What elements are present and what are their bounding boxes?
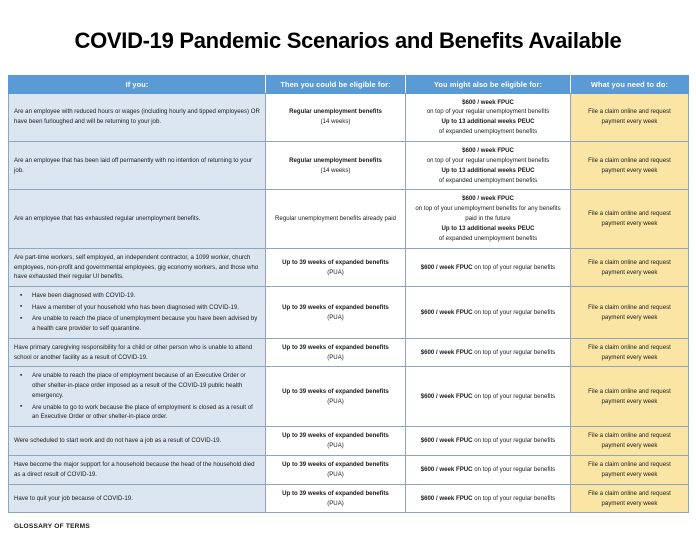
also-eligible-amount: $600 / week FPUC <box>421 393 473 400</box>
also-eligible-amount: $600 / week FPUC <box>421 309 473 316</box>
cell-then-eligible: Regular unemployment benefits(14 weeks) <box>266 93 406 141</box>
cell-what-to-do: File a claim online and request payment … <box>571 367 689 427</box>
also-eligible-amount: $600 / week FPUC <box>421 495 473 502</box>
then-eligible-sub: (14 weeks) <box>321 118 351 125</box>
scenario-text: Have primary caregiving responsibility f… <box>14 344 252 361</box>
also-eligible-peuc: Up to 13 additional weeks PEUC <box>441 118 534 125</box>
cell-might-also: $600 / week FPUC on top of your regular … <box>406 455 571 484</box>
then-eligible-title: Regular unemployment benefits <box>289 157 382 164</box>
action-text: File a claim online and request payment … <box>588 210 671 227</box>
cell-if-you: Have to quit your job because of COVID-1… <box>9 484 266 513</box>
cell-might-also: $600 / week FPUCon top of your unemploym… <box>406 190 571 248</box>
scenario-text: Are part-time workers, self employed, an… <box>14 254 258 281</box>
also-eligible-detail: on top of your regular unemployment bene… <box>427 157 550 164</box>
then-eligible-sub: (PUA) <box>327 354 344 361</box>
then-eligible-sub: (PUA) <box>327 442 344 449</box>
action-text: File a claim online and request payment … <box>588 461 671 478</box>
table-row: Have become the major support for a hous… <box>9 455 689 484</box>
cell-what-to-do: File a claim online and request payment … <box>571 338 689 367</box>
cell-what-to-do: File a claim online and request payment … <box>571 142 689 190</box>
cell-might-also: $600 / week FPUC on top of your regular … <box>406 248 571 287</box>
cell-if-you: Are an employee with reduced hours or wa… <box>9 93 266 141</box>
scenario-bullet: Are unable to go to work because the pla… <box>32 403 260 423</box>
then-eligible-sub: (PUA) <box>327 500 344 507</box>
cell-then-eligible: Up to 39 weeks of expanded benefits(PUA) <box>266 367 406 427</box>
cell-what-to-do: File a claim online and request payment … <box>571 248 689 287</box>
action-text: File a claim online and request payment … <box>588 304 671 321</box>
cell-then-eligible: Up to 39 weeks of expanded benefits(PUA) <box>266 484 406 513</box>
cell-then-eligible: Regular unemployment benefits(14 weeks) <box>266 142 406 190</box>
also-eligible-detail: on top of your regular benefits <box>473 349 556 356</box>
cell-might-also: $600 / week FPUC on top of your regular … <box>406 338 571 367</box>
table-header-row: If you: Then you could be eligible for: … <box>9 75 689 93</box>
then-eligible-title: Up to 39 weeks of expanded benefits <box>282 344 389 351</box>
cell-might-also: $600 / week FPUC on top of your regular … <box>406 367 571 427</box>
page-title: COVID-19 Pandemic Scenarios and Benefits… <box>8 15 688 60</box>
action-text: File a claim online and request payment … <box>588 490 671 507</box>
cell-then-eligible: Up to 39 weeks of expanded benefits(PUA) <box>266 338 406 367</box>
scenario-bullet: Have a member of your household who has … <box>32 303 260 313</box>
table-row: Were scheduled to start work and do not … <box>9 427 689 456</box>
cell-then-eligible: Up to 39 weeks of expanded benefits(PUA) <box>266 427 406 456</box>
scenario-text: Are an employee that has been laid off p… <box>14 157 252 174</box>
also-eligible-detail: on top of your regular benefits <box>473 264 556 271</box>
then-eligible-title: Up to 39 weeks of expanded benefits <box>282 259 389 266</box>
then-eligible-sub: (PUA) <box>327 314 344 321</box>
action-text: File a claim online and request payment … <box>588 432 671 449</box>
also-eligible-detail: on top of your regular benefits <box>473 437 556 444</box>
scenario-text: Are an employee with reduced hours or wa… <box>14 108 260 125</box>
scenario-text: Have to quit your job because of COVID-1… <box>14 495 133 502</box>
cell-if-you: Are an employee that has exhausted regul… <box>9 190 266 248</box>
cell-then-eligible: Up to 39 weeks of expanded benefits(PUA) <box>266 287 406 338</box>
also-eligible-peuc-detail: of expanded unemployment benefits <box>439 177 537 184</box>
glossary-heading: GLOSSARY OF TERMS <box>14 523 682 530</box>
then-eligible-title: Up to 39 weeks of expanded benefits <box>282 461 389 468</box>
action-text: File a claim online and request payment … <box>588 108 671 125</box>
also-eligible-detail: on top of your regular unemployment bene… <box>427 108 550 115</box>
also-eligible-detail: on top of your regular benefits <box>473 466 556 473</box>
cell-then-eligible: Up to 39 weeks of expanded benefits(PUA) <box>266 248 406 287</box>
cell-might-also: $600 / week FPUC on top of your regular … <box>406 484 571 513</box>
scenario-text: Have become the major support for a hous… <box>14 461 255 478</box>
cell-then-eligible: Up to 39 weeks of expanded benefits(PUA) <box>266 455 406 484</box>
column-header-if-you: If you: <box>9 75 266 93</box>
also-eligible-amount: $600 / week FPUC <box>421 466 473 473</box>
benefits-matrix-table: If you: Then you could be eligible for: … <box>8 75 689 514</box>
cell-what-to-do: File a claim online and request payment … <box>571 190 689 248</box>
then-eligible-title: Up to 39 weeks of expanded benefits <box>282 490 389 497</box>
column-header-then-eligible: Then you could be eligible for: <box>266 75 406 93</box>
table-row: Are part-time workers, self employed, an… <box>9 248 689 287</box>
also-eligible-amount: $600 / week FPUC <box>462 147 514 154</box>
also-eligible-detail: on top of your regular benefits <box>473 309 556 316</box>
also-eligible-detail: on top of your regular benefits <box>473 495 556 502</box>
also-eligible-detail: on top of your unemployment benefits for… <box>415 205 560 222</box>
scenario-bullet: Are unable to reach the place of unemplo… <box>32 314 260 334</box>
cell-might-also: $600 / week FPUCon top of your regular u… <box>406 93 571 141</box>
column-header-what-to-do: What you need to do: <box>571 75 689 93</box>
column-header-might-also: You might also be eligible for: <box>406 75 571 93</box>
then-eligible-text: Regular unemployment benefits already pa… <box>275 215 396 222</box>
scenario-bullet: Are unable to reach the place of employm… <box>32 371 260 401</box>
also-eligible-peuc-detail: of expanded unemployment benefits <box>439 128 537 135</box>
also-eligible-peuc-detail: of expanded unemployment benefits <box>439 235 537 242</box>
table-header: If you: Then you could be eligible for: … <box>9 75 689 93</box>
cell-if-you: Are unable to reach the place of employm… <box>9 367 266 427</box>
action-text: File a claim online and request payment … <box>588 388 671 405</box>
cell-what-to-do: File a claim online and request payment … <box>571 93 689 141</box>
table-row: Are unable to reach the place of employm… <box>9 367 689 427</box>
also-eligible-amount: $600 / week FPUC <box>462 195 514 202</box>
action-text: File a claim online and request payment … <box>588 344 671 361</box>
also-eligible-peuc: Up to 13 additional weeks PEUC <box>441 225 534 232</box>
scenario-text: Were scheduled to start work and do not … <box>14 437 221 444</box>
table-row: Have been diagnosed with COVID-19.Have a… <box>9 287 689 338</box>
cell-if-you: Have primary caregiving responsibility f… <box>9 338 266 367</box>
scenario-text: Are an employee that has exhausted regul… <box>14 215 200 222</box>
cell-then-eligible: Regular unemployment benefits already pa… <box>266 190 406 248</box>
then-eligible-sub: (PUA) <box>327 398 344 405</box>
also-eligible-amount: $600 / week FPUC <box>462 99 514 106</box>
table-row: Are an employee that has exhausted regul… <box>9 190 689 248</box>
table-row: Are an employee that has been laid off p… <box>9 142 689 190</box>
then-eligible-title: Regular unemployment benefits <box>289 108 382 115</box>
action-text: File a claim online and request payment … <box>588 259 671 276</box>
scenario-bullet-list: Are unable to reach the place of employm… <box>14 371 260 422</box>
also-eligible-peuc: Up to 13 additional weeks PEUC <box>441 167 534 174</box>
table-row: Are an employee with reduced hours or wa… <box>9 93 689 141</box>
cell-might-also: $600 / week FPUC on top of your regular … <box>406 427 571 456</box>
then-eligible-sub: (PUA) <box>327 269 344 276</box>
then-eligible-title: Up to 39 weeks of expanded benefits <box>282 388 389 395</box>
cell-if-you: Are part-time workers, self employed, an… <box>9 248 266 287</box>
scenario-bullet: Have been diagnosed with COVID-19. <box>32 291 260 301</box>
also-eligible-amount: $600 / week FPUC <box>421 437 473 444</box>
table-row: Have primary caregiving responsibility f… <box>9 338 689 367</box>
cell-if-you: Were scheduled to start work and do not … <box>9 427 266 456</box>
cell-what-to-do: File a claim online and request payment … <box>571 287 689 338</box>
cell-might-also: $600 / week FPUCon top of your regular u… <box>406 142 571 190</box>
also-eligible-amount: $600 / week FPUC <box>421 264 473 271</box>
glossary-section: GLOSSARY OF TERMS ADDITIONAL FEDERAL UNE… <box>8 513 688 538</box>
cell-if-you: Have become the major support for a hous… <box>9 455 266 484</box>
cell-if-you: Have been diagnosed with COVID-19.Have a… <box>9 287 266 338</box>
cell-might-also: $600 / week FPUC on top of your regular … <box>406 287 571 338</box>
cell-what-to-do: File a claim online and request payment … <box>571 455 689 484</box>
also-eligible-amount: $600 / week FPUC <box>421 349 473 356</box>
document-page: COVID-19 Pandemic Scenarios and Benefits… <box>0 15 696 538</box>
cell-what-to-do: File a claim online and request payment … <box>571 484 689 513</box>
table-row: Have to quit your job because of COVID-1… <box>9 484 689 513</box>
then-eligible-sub: (14 weeks) <box>321 167 351 174</box>
also-eligible-detail: on top of your regular benefits <box>473 393 556 400</box>
then-eligible-title: Up to 39 weeks of expanded benefits <box>282 304 389 311</box>
then-eligible-sub: (PUA) <box>327 471 344 478</box>
cell-what-to-do: File a claim online and request payment … <box>571 427 689 456</box>
cell-if-you: Are an employee that has been laid off p… <box>9 142 266 190</box>
action-text: File a claim online and request payment … <box>588 157 671 174</box>
then-eligible-title: Up to 39 weeks of expanded benefits <box>282 432 389 439</box>
scenario-bullet-list: Have been diagnosed with COVID-19.Have a… <box>14 291 260 333</box>
table-body: Are an employee with reduced hours or wa… <box>9 93 689 513</box>
